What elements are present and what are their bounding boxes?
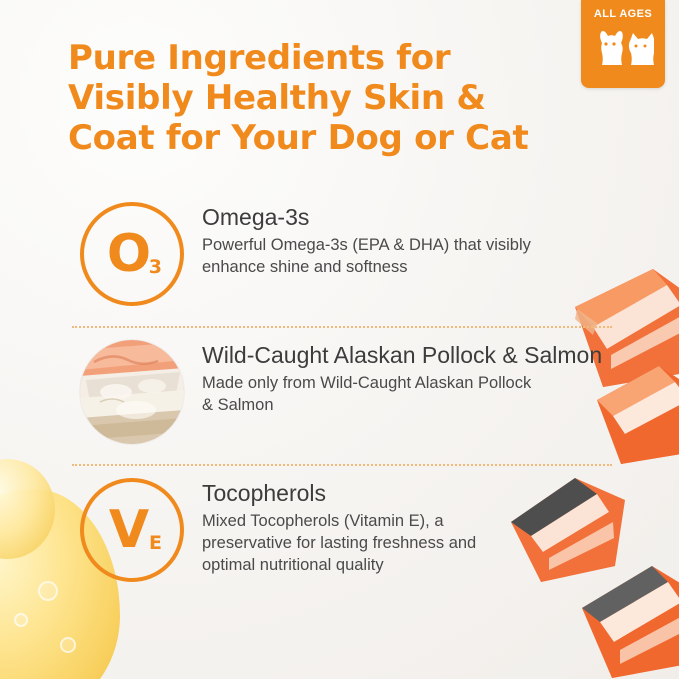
headline-line-1: Pure Ingredients for (68, 38, 608, 78)
feature-description: Mixed Tocopherols (Vitamin E), a preserv… (202, 511, 532, 577)
all-ages-badge-label: ALL AGES (581, 0, 665, 20)
omega-3-letter: O (107, 228, 151, 280)
headline-line-3: Coat for Your Dog or Cat (68, 118, 608, 158)
feature-title: Wild-Caught Alaskan Pollock & Salmon (202, 342, 612, 369)
omega-3-ring-icon: O 3 (80, 202, 184, 306)
feature-icon-slot: V E (72, 472, 192, 582)
feature-icon-slot: O 3 (72, 196, 192, 306)
omega-3-subscript: 3 (149, 256, 162, 278)
feature-icon-slot (72, 334, 192, 444)
feature-title: Omega-3s (202, 204, 612, 231)
feature-list: O 3 Omega-3s Powerful Omega-3s (EPA & DH… (72, 190, 612, 602)
poster-canvas: ALL AGES Pure Ingredients for Visibly He… (0, 0, 679, 679)
feature-text: Tocopherols Mixed Tocopherols (Vitamin E… (192, 472, 612, 577)
feature-item-fish: Wild-Caught Alaskan Pollock & Salmon Mad… (72, 326, 612, 464)
feature-description: Powerful Omega-3s (EPA & DHA) that visib… (202, 235, 532, 279)
fish-fillet-photo (80, 340, 184, 444)
feature-item-omega3: O 3 Omega-3s Powerful Omega-3s (EPA & DH… (72, 190, 612, 326)
oil-bubble-icon (60, 637, 76, 653)
feature-text: Omega-3s Powerful Omega-3s (EPA & DHA) t… (192, 196, 612, 279)
vitamin-e-subscript: E (149, 532, 162, 554)
feature-item-tocopherols: V E Tocopherols Mixed Tocopherols (Vitam… (72, 464, 612, 602)
feature-description: Made only from Wild-Caught Alaskan Pollo… (202, 373, 542, 417)
feature-text: Wild-Caught Alaskan Pollock & Salmon Mad… (192, 334, 612, 417)
fish-fillet-photo-art (80, 340, 184, 444)
oil-bubble-icon (14, 613, 28, 627)
headline: Pure Ingredients for Visibly Healthy Ski… (68, 38, 608, 158)
oil-bubble-icon (38, 581, 58, 601)
vitamin-e-letter: V (109, 504, 149, 556)
headline-line-2: Visibly Healthy Skin & (68, 78, 608, 118)
feature-title: Tocopherols (202, 480, 612, 507)
vitamin-e-ring-icon: V E (80, 478, 184, 582)
